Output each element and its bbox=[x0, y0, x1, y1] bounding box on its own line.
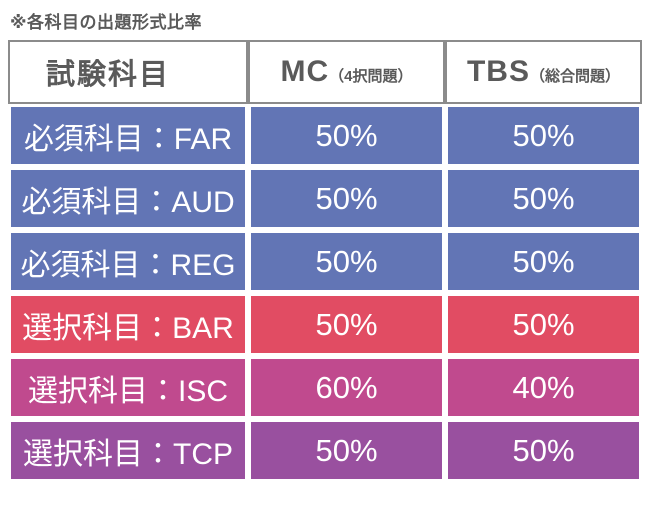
column-header-mc-sublabel: （4択問題） bbox=[329, 68, 412, 85]
cell-subject: 選択科目：ISC bbox=[8, 356, 248, 419]
table-header: 試験科目 MC（4択問題） TBS（総合問題） bbox=[8, 40, 642, 104]
column-header-mc-label: MC bbox=[281, 55, 330, 88]
column-header-subject-label: 試験科目 bbox=[46, 51, 210, 93]
column-header-tbs-label: TBS bbox=[467, 55, 530, 88]
cell-subject: 必須科目：AUD bbox=[8, 167, 248, 230]
cell-tbs-percent: 50% bbox=[445, 104, 642, 167]
page-root: ※各科目の出題形式比率 試験科目 MC（4択問題） TBS（総合問題） 必須科目… bbox=[0, 0, 650, 514]
cell-tbs-percent: 50% bbox=[445, 167, 642, 230]
column-header-mc: MC（4択問題） bbox=[248, 40, 445, 104]
column-header-tbs: TBS（総合問題） bbox=[445, 40, 642, 104]
header-row: 試験科目 MC（4択問題） TBS（総合問題） bbox=[8, 40, 642, 104]
column-header-tbs-sublabel: （総合問題） bbox=[530, 68, 620, 85]
cell-tbs-percent: 50% bbox=[445, 419, 642, 482]
page-title: ※各科目の出題形式比率 bbox=[10, 14, 642, 31]
cell-subject: 必須科目：FAR bbox=[8, 104, 248, 167]
table-row: 選択科目：TCP50%50% bbox=[8, 419, 642, 482]
cell-subject: 選択科目：TCP bbox=[8, 419, 248, 482]
table-row: 必須科目：FAR50%50% bbox=[8, 104, 642, 167]
column-header-subject: 試験科目 bbox=[8, 40, 248, 104]
table-row: 必須科目：AUD50%50% bbox=[8, 167, 642, 230]
cell-mc-percent: 50% bbox=[248, 419, 445, 482]
table-row: 選択科目：BAR50%50% bbox=[8, 293, 642, 356]
cell-mc-percent: 50% bbox=[248, 293, 445, 356]
cell-tbs-percent: 40% bbox=[445, 356, 642, 419]
cell-tbs-percent: 50% bbox=[445, 293, 642, 356]
cell-tbs-percent: 50% bbox=[445, 230, 642, 293]
cell-mc-percent: 50% bbox=[248, 104, 445, 167]
cell-mc-percent: 60% bbox=[248, 356, 445, 419]
cell-subject: 必須科目：REG bbox=[8, 230, 248, 293]
cell-mc-percent: 50% bbox=[248, 167, 445, 230]
exam-format-ratio-table: 試験科目 MC（4択問題） TBS（総合問題） 必須科目：FAR50%50%必須… bbox=[8, 40, 642, 482]
table-body: 必須科目：FAR50%50%必須科目：AUD50%50%必須科目：REG50%5… bbox=[8, 104, 642, 482]
table-row: 必須科目：REG50%50% bbox=[8, 230, 642, 293]
cell-subject: 選択科目：BAR bbox=[8, 293, 248, 356]
table-row: 選択科目：ISC60%40% bbox=[8, 356, 642, 419]
cell-mc-percent: 50% bbox=[248, 230, 445, 293]
